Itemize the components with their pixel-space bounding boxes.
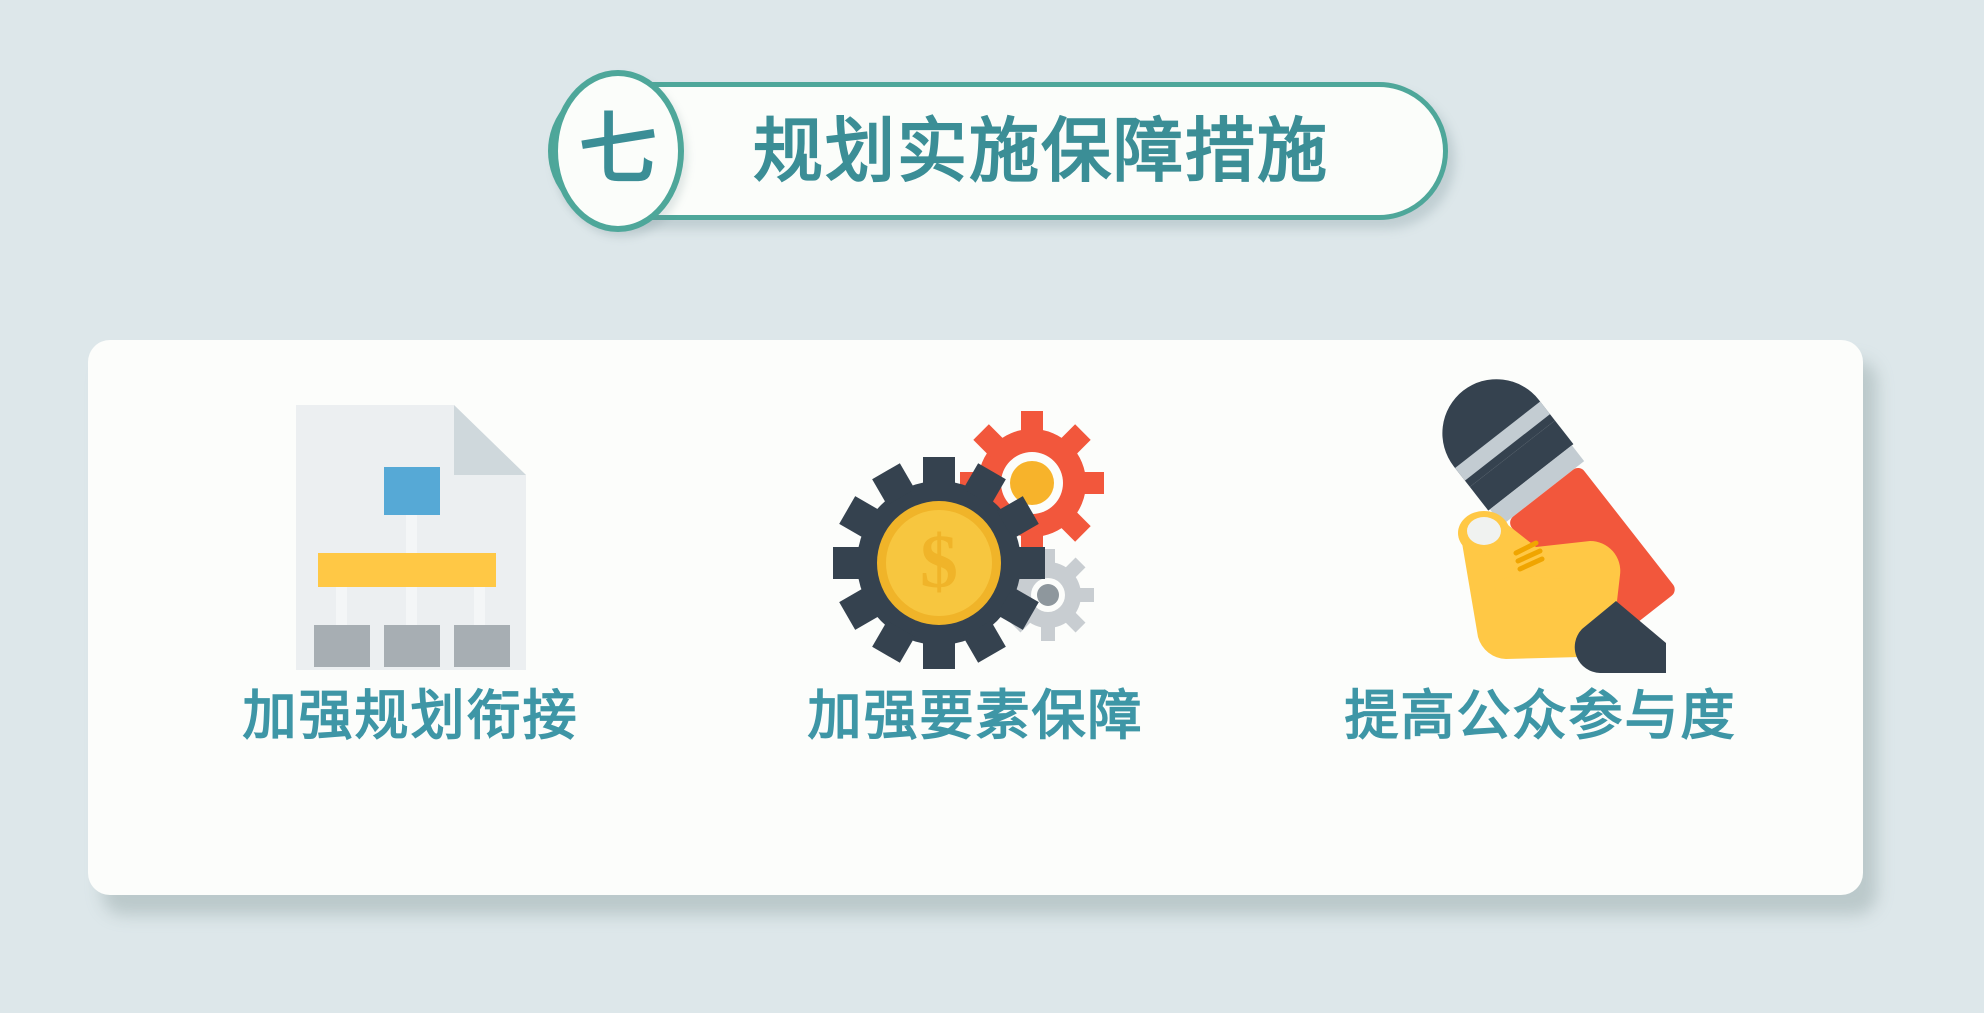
section-index-badge: 七 [552, 70, 684, 232]
dollar-sign: $ [920, 520, 958, 604]
feature-item-resource-guarantee[interactable]: $ 加强要素保障 [726, 340, 1226, 895]
features-card: 加强规划衔接 [88, 340, 1863, 895]
feature-label: 加强规划衔接 [243, 689, 579, 743]
feature-item-public-participation[interactable]: 提高公众参与度 [1291, 340, 1791, 895]
hand-microphone-icon [1391, 400, 1691, 675]
feature-item-planning-alignment[interactable]: 加强规划衔接 [161, 340, 661, 895]
page-title: 规划实施保障措施 [753, 116, 1329, 186]
header-band: 规划实施保障措施 七 [0, 0, 1984, 250]
feature-label: 提高公众参与度 [1345, 689, 1737, 743]
section-index-label: 七 [579, 110, 657, 188]
feature-label: 加强要素保障 [808, 689, 1144, 743]
gears-coin-icon: $ [826, 400, 1126, 675]
document-org-chart-icon [261, 400, 561, 675]
